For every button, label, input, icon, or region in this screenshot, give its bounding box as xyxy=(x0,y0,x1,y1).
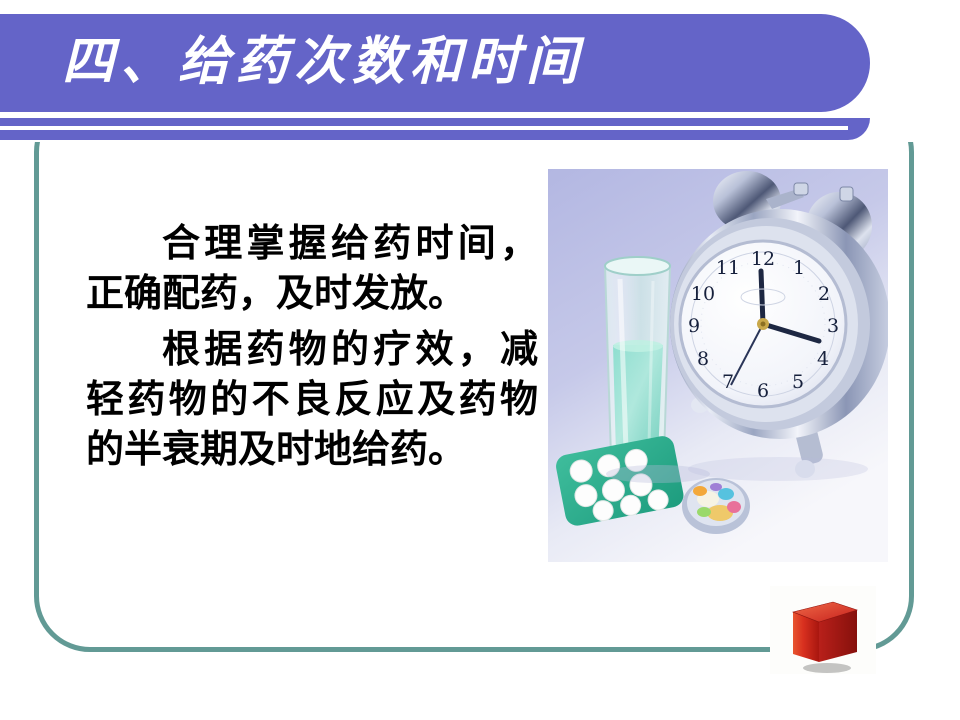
svg-text:5: 5 xyxy=(792,371,804,393)
svg-text:10: 10 xyxy=(691,283,715,305)
body-text-block: 合理掌握给药时间，正确配药，及时发放。 根据药物的疗效，减轻药物的不良反应及药物… xyxy=(86,218,538,480)
svg-text:9: 9 xyxy=(688,315,700,337)
svg-text:6: 6 xyxy=(757,380,769,402)
pill-dish xyxy=(682,478,750,534)
svg-text:8: 8 xyxy=(697,348,709,370)
slide-title: 四、给药次数和时间 xyxy=(62,30,584,94)
svg-text:11: 11 xyxy=(716,257,740,279)
svg-text:1: 1 xyxy=(793,257,805,279)
slide-root: 四、给药次数和时间 合理掌握给药时间，正确配药，及时发放。 根据药物的疗效，减轻… xyxy=(0,0,960,720)
svg-text:3: 3 xyxy=(827,315,839,337)
banner-underline xyxy=(0,126,848,130)
alarm-clock-pills-photo: 12 1 2 3 4 5 6 7 8 9 10 11 xyxy=(548,169,888,562)
svg-text:12: 12 xyxy=(751,248,775,270)
body-paragraph-1: 合理掌握给药时间，正确配药，及时发放。 xyxy=(86,218,538,318)
body-paragraph-2: 根据药物的疗效，减轻药物的不良反应及药物的半衰期及时地给药。 xyxy=(86,324,538,474)
red-cube-icon xyxy=(789,596,861,674)
red-cube-graphic xyxy=(789,596,861,674)
svg-text:2: 2 xyxy=(818,283,830,305)
photo-illustration: 12 1 2 3 4 5 6 7 8 9 10 11 xyxy=(548,169,888,562)
svg-text:4: 4 xyxy=(817,348,829,370)
